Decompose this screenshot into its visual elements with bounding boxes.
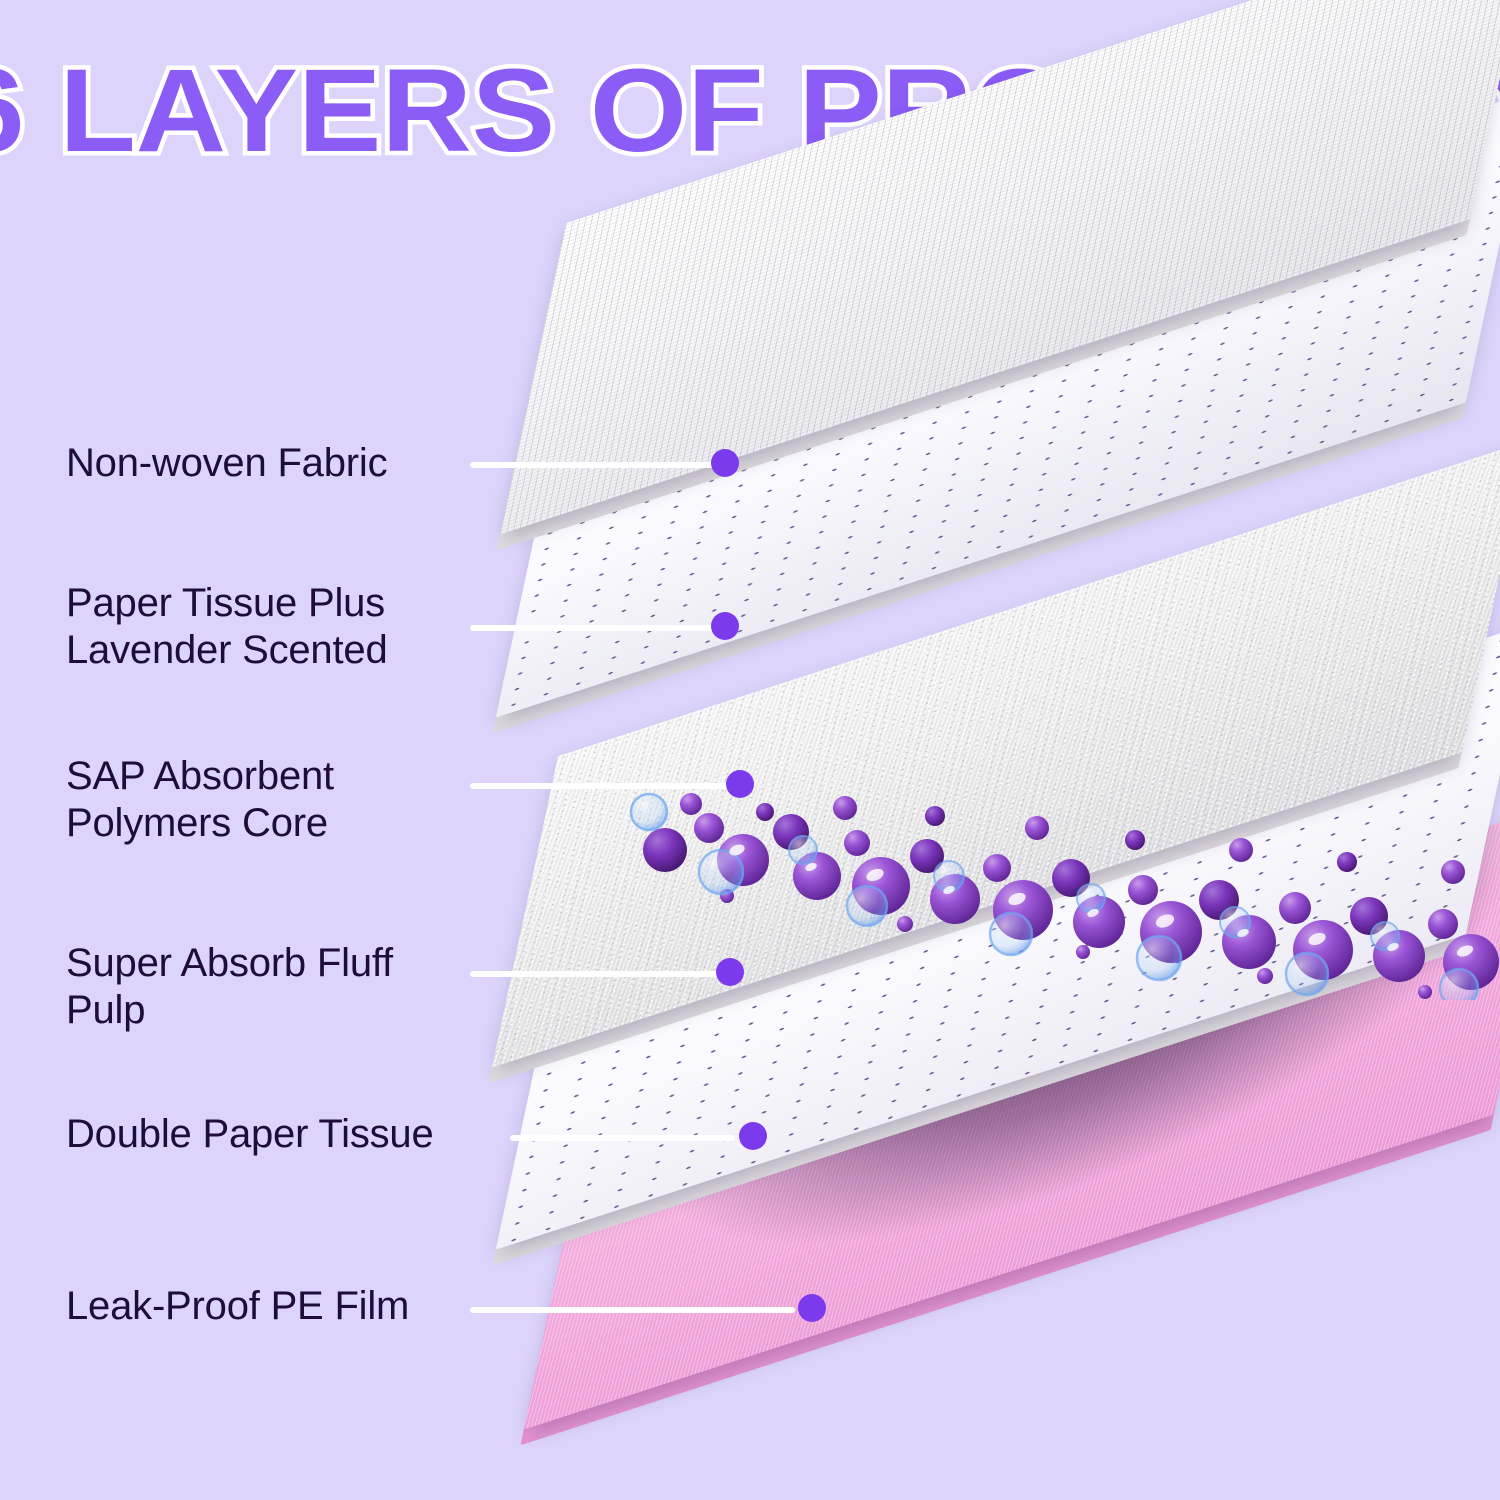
leader-dot-sap-absorbent-polymers-core	[726, 770, 754, 798]
infographic-canvas: 6 LAYERS OF PROTECTION	[0, 0, 1500, 1500]
callout-label-sap-absorbent-polymers-core: SAP Absorbent Polymers Core	[66, 753, 334, 847]
layer-stack-illustration	[0, 0, 1500, 1500]
leader-line-leak-proof-pe-film	[470, 1307, 795, 1313]
callout-label-non-woven-fabric: Non-woven Fabric	[66, 440, 387, 487]
leader-dot-paper-tissue-lavender	[711, 612, 739, 640]
leader-dot-leak-proof-pe-film	[798, 1294, 826, 1322]
leader-line-sap-absorbent-polymers-core	[470, 783, 735, 789]
callout-label-super-absorb-fluff-pulp: Super Absorb Fluff Pulp	[66, 940, 393, 1034]
leader-line-paper-tissue-lavender	[470, 625, 720, 631]
leader-line-double-paper-tissue	[510, 1135, 735, 1141]
leader-dot-super-absorb-fluff-pulp	[716, 958, 744, 986]
callout-label-double-paper-tissue: Double Paper Tissue	[66, 1111, 434, 1158]
leader-dot-non-woven-fabric	[711, 449, 739, 477]
leader-line-super-absorb-fluff-pulp	[470, 971, 720, 977]
callout-label-paper-tissue-lavender: Paper Tissue Plus Lavender Scented	[66, 580, 388, 674]
callout-label-leak-proof-pe-film: Leak-Proof PE Film	[66, 1283, 409, 1330]
leader-line-non-woven-fabric	[470, 462, 720, 468]
leader-dot-double-paper-tissue	[739, 1122, 767, 1150]
